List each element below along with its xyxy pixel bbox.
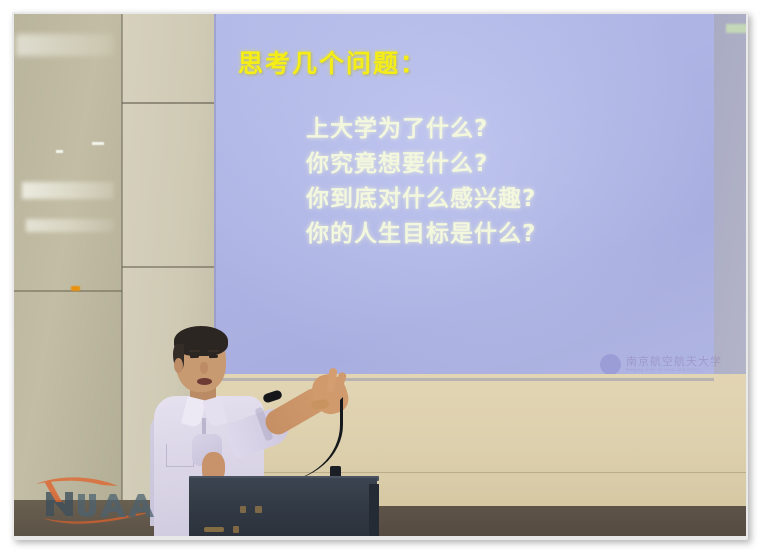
left-wall-sheen-top xyxy=(16,34,114,56)
column-seam-middle xyxy=(122,266,214,268)
slide-title: 思考几个问题： xyxy=(238,44,427,80)
exit-sign-glow xyxy=(726,24,746,33)
photo-frame: 思考几个问题： 上大学为了什么? 你究竟想要什么? 你到底对什么感兴趣? 你的人… xyxy=(0,0,760,552)
left-wall-seam xyxy=(14,290,122,292)
speaker-eye-right xyxy=(209,355,218,358)
podium-mark xyxy=(233,526,239,533)
projection-screen: 思考几个问题： 上大学为了什么? 你究竟想要什么? 你到底对什么感兴趣? 你的人… xyxy=(214,14,714,380)
podium-mark xyxy=(255,506,262,513)
right-wall-panel xyxy=(714,14,746,386)
speaker-ear xyxy=(174,358,183,373)
screenshot-root: 思考几个问题： 上大学为了什么? 你究竟想要什么? 你到底对什么感兴趣? 你的人… xyxy=(0,0,760,552)
nuaa-logo-icon xyxy=(32,472,160,526)
screen-left-edge xyxy=(214,14,216,380)
university-name-en: Nanjing Univ. of Aero. and Astro. xyxy=(626,368,722,373)
slide-line: 你的人生目标是什么? xyxy=(306,217,676,252)
speaker-mouth xyxy=(197,378,212,385)
left-wall-highlight-dot-1 xyxy=(56,150,63,153)
amber-wall-marker xyxy=(71,286,80,291)
slide-line: 你究竟想要什么? xyxy=(306,147,676,182)
left-wall-sheen-lower xyxy=(26,219,114,232)
photograph: 思考几个问题： 上大学为了什么? 你究竟想要什么? 你到底对什么感兴趣? 你的人… xyxy=(14,14,746,536)
column-edge xyxy=(121,14,123,536)
column-seam-top xyxy=(122,102,214,104)
speaker-nose xyxy=(200,362,208,374)
speaker-shirt-pocket xyxy=(166,444,194,467)
left-wall xyxy=(14,14,122,536)
slide-body: 上大学为了什么? 你究竟想要什么? 你到底对什么感兴趣? 你的人生目标是什么? xyxy=(306,112,676,252)
university-logo-text: 南京航空航天大学 Nanjing Univ. of Aero. and Astr… xyxy=(626,356,722,372)
slide-line: 上大学为了什么? xyxy=(306,112,676,147)
left-wall-highlight-dot-2 xyxy=(92,142,104,145)
speaker-eyebrow-left xyxy=(189,350,200,352)
nuaa-watermark xyxy=(32,472,160,526)
left-wall-sheen-upper xyxy=(22,182,114,199)
slide-university-logo: 南京航空航天大学 Nanjing Univ. of Aero. and Astr… xyxy=(600,354,722,375)
speaker-eye-left xyxy=(190,355,199,358)
podium-mark xyxy=(204,527,224,532)
podium-mark xyxy=(240,506,246,513)
university-seal-icon xyxy=(600,354,621,375)
speaker-eyebrow-right xyxy=(208,350,219,352)
slide-line: 你到底对什么感兴趣? xyxy=(306,182,676,217)
podium-side-face xyxy=(369,484,379,536)
screen-bottom-edge xyxy=(214,378,714,381)
